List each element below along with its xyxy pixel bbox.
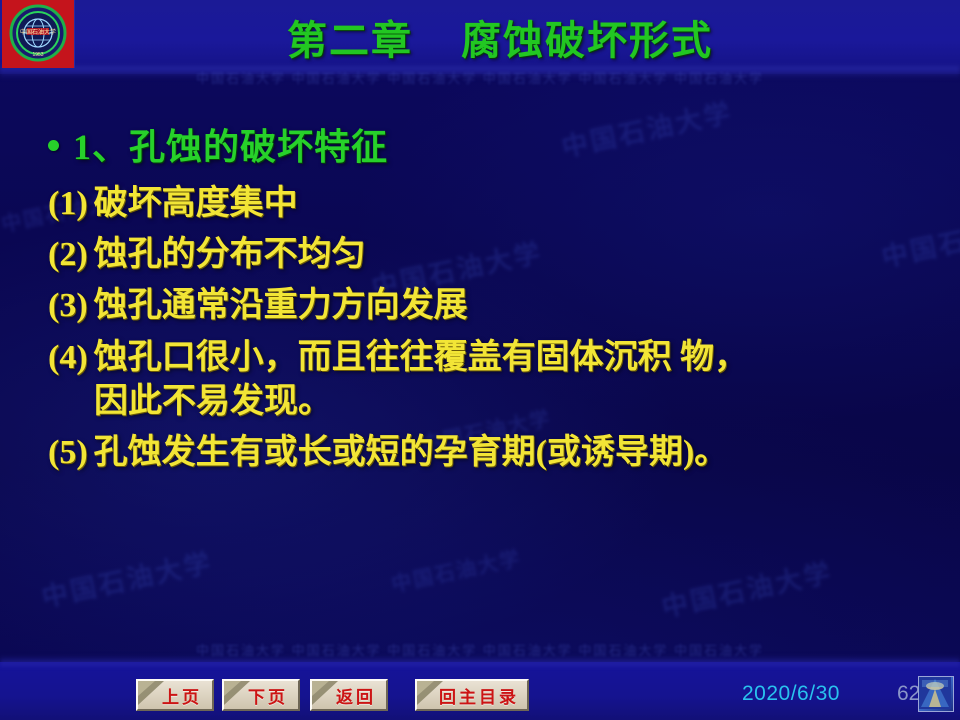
list-item-marker: (1) — [48, 185, 88, 222]
main-menu-label: 回主目录 — [425, 683, 519, 708]
list-item-continuation: 因此不易发现。 — [48, 380, 940, 424]
back-button[interactable]: 返回 — [310, 679, 388, 711]
list-item-text: 破坏高度集中 — [94, 185, 298, 222]
next-page-button[interactable]: 下页 — [222, 679, 300, 711]
slide-body: 1、孔蚀的破坏特征 (1)破坏高度集中 (2)蚀孔的分布不均匀 (3)蚀孔通常沿… — [48, 118, 940, 482]
section-heading-text: 1、孔蚀的破坏特征 — [73, 118, 388, 170]
list-item: (1)破坏高度集中 — [48, 182, 940, 226]
list-item-text: 蚀孔通常沿重力方向发展 — [94, 287, 468, 324]
list-item-text: 蚀孔的分布不均匀 — [94, 236, 366, 273]
bullet-icon — [48, 140, 59, 151]
page-title: 第二章腐蚀破坏形式 — [0, 8, 960, 66]
title-prefix: 第二章 — [287, 18, 413, 63]
list-item-marker: (4) — [48, 339, 88, 376]
decorative-thumbnail-icon — [918, 676, 954, 712]
list-item-marker: (3) — [48, 287, 88, 324]
back-label: 返回 — [322, 683, 376, 708]
main-menu-button[interactable]: 回主目录 — [415, 679, 529, 711]
list-item-text: 蚀孔口很小，而且往往覆盖有固体沉积 物， — [94, 339, 749, 376]
list-item: (2)蚀孔的分布不均匀 — [48, 233, 940, 277]
list-item-marker: (2) — [48, 236, 88, 273]
watermark-strip-top: 中国石油大学 中国石油大学 中国石油大学 中国石油大学 中国石油大学 中国石油大… — [0, 68, 960, 86]
list-item: (4)蚀孔口很小，而且往往覆盖有固体沉积 物， 因此不易发现。 — [48, 336, 940, 424]
title-main: 腐蚀破坏形式 — [461, 18, 713, 63]
next-page-label: 下页 — [234, 683, 288, 708]
list-item-text: 孔蚀发生有或长或短的孕育期(或诱导期)。 — [94, 434, 729, 471]
prev-page-label: 上页 — [148, 683, 202, 708]
date-text: 2020/6/30 — [742, 682, 840, 706]
list-item: (3)蚀孔通常沿重力方向发展 — [48, 284, 940, 328]
prev-page-button[interactable]: 上页 — [136, 679, 214, 711]
section-heading: 1、孔蚀的破坏特征 — [48, 118, 940, 170]
watermark-strip-bottom: 中国石油大学 中国石油大学 中国石油大学 中国石油大学 中国石油大学 中国石油大… — [0, 640, 960, 658]
presentation-slide: 中国石油大学 中国石油大学 中国石油大学 中国石油大学 中国石油大学 中国石油大… — [0, 0, 960, 720]
list-item: (5)孔蚀发生有或长或短的孕育期(或诱导期)。 — [48, 431, 940, 475]
page-number: 62 — [897, 682, 920, 706]
thumbnail-graphic — [919, 677, 951, 709]
list-item-marker: (5) — [48, 434, 88, 471]
